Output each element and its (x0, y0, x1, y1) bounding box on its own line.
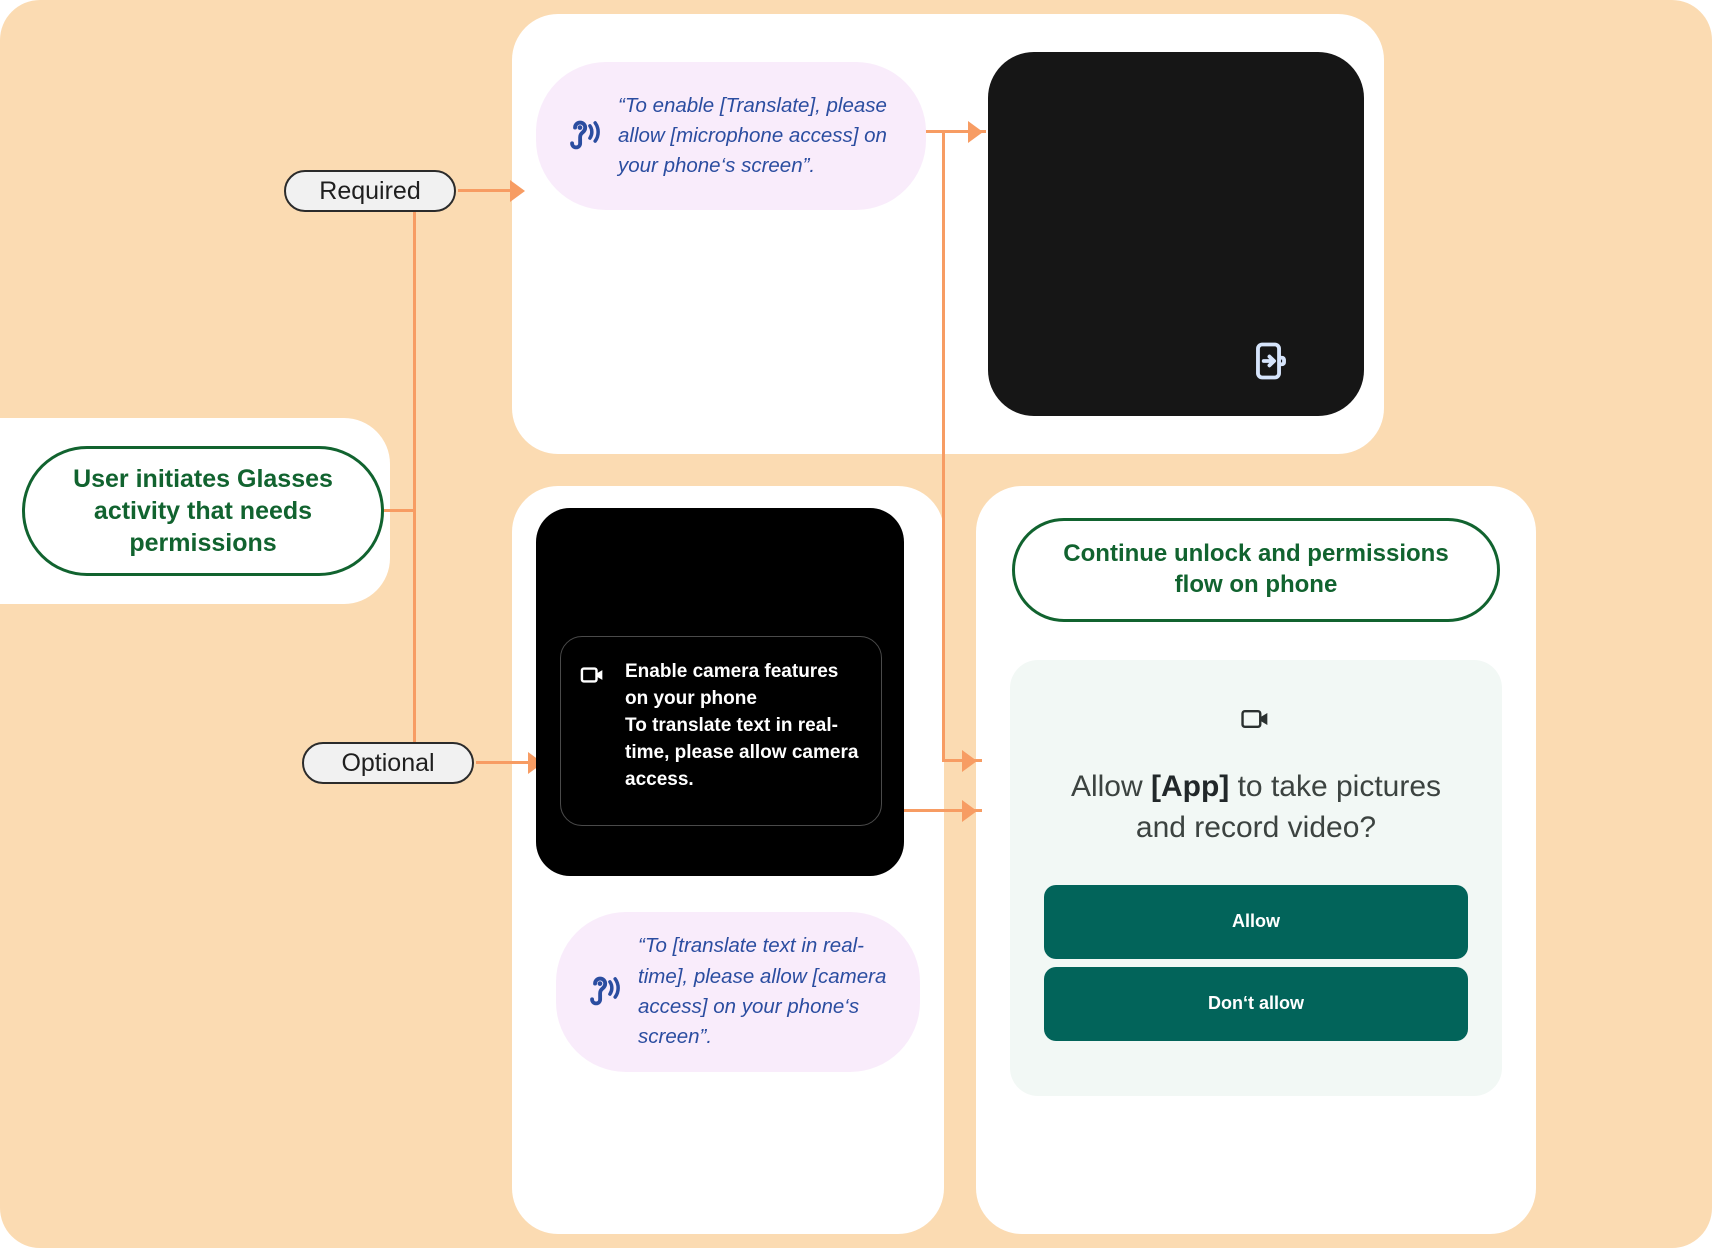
video-camera-icon (579, 659, 611, 825)
connector-optional-to-glasses (476, 761, 530, 764)
connector-required-to-bubble (458, 189, 512, 192)
diagram-canvas: User initiates Glasses activity that nee… (0, 0, 1712, 1248)
dialog-question-app: [App] (1151, 770, 1229, 803)
node-start-user-initiates: User initiates Glasses activity that nee… (22, 446, 384, 576)
phone-permission-dialog: Allow [App] to take pictures and record … (1010, 660, 1502, 1096)
arrowhead-to-phone-dialog (962, 750, 977, 772)
connector-vertical-trunk (413, 191, 416, 763)
glasses-card-text: Enable camera features on your phone To … (625, 659, 861, 825)
video-camera-icon (1239, 702, 1273, 741)
node-continue-on-phone: Continue unlock and permissions flow on … (1012, 518, 1500, 622)
glasses-card-body: To translate text in real-time, please a… (625, 713, 861, 794)
exit-door-arrow-icon (1248, 338, 1294, 384)
dialog-question-prefix: Allow (1071, 770, 1151, 803)
connector-start-to-trunk (384, 509, 416, 512)
arrowhead-card-to-dialog (962, 800, 977, 822)
arrowhead-bubble-to-glasses-top (968, 121, 983, 143)
glasses-card-heading: Enable camera features on your phone (625, 661, 838, 709)
dialog-icon-wrap (1044, 702, 1468, 741)
bubble-camera-text: “To [translate text in real-time], pleas… (638, 931, 894, 1052)
ear-hearing-icon (578, 971, 624, 1013)
ear-hearing-icon (558, 115, 604, 157)
arrowhead-required-to-bubble (510, 180, 525, 202)
connector-vertical-to-phone (942, 130, 945, 762)
speech-bubble-camera: “To [translate text in real-time], pleas… (556, 912, 920, 1072)
glasses-camera-card: Enable camera features on your phone To … (560, 636, 882, 826)
speech-bubble-microphone: “To enable [Translate], please allow [mi… (536, 62, 926, 210)
dialog-question: Allow [App] to take pictures and record … (1044, 767, 1468, 849)
dont-allow-button[interactable]: Don‘t allow (1044, 967, 1468, 1041)
glasses-screen-locked (988, 52, 1364, 416)
allow-button[interactable]: Allow (1044, 885, 1468, 959)
pill-optional[interactable]: Optional (302, 742, 474, 784)
pill-required[interactable]: Required (284, 170, 456, 212)
bubble-microphone-text: “To enable [Translate], please allow [mi… (618, 91, 900, 182)
